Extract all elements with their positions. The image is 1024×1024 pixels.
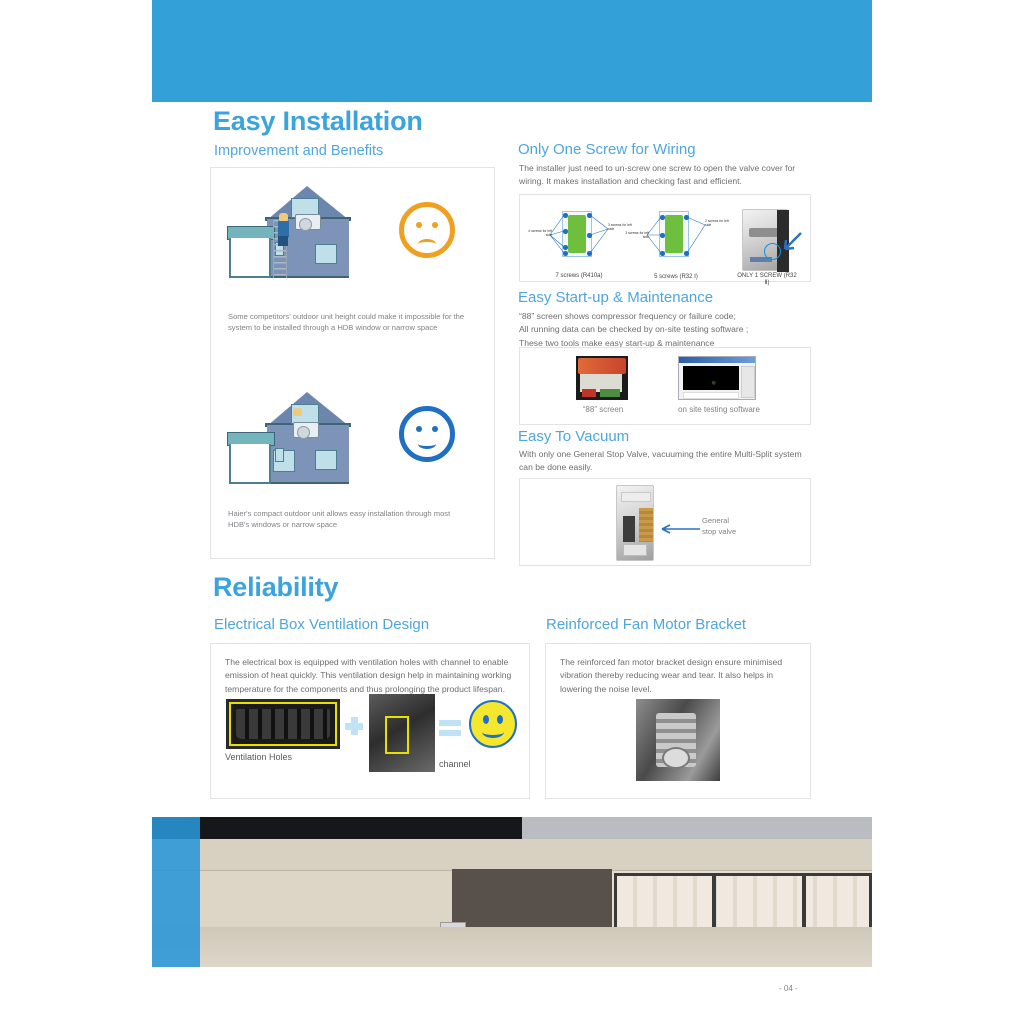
caption-competitor-limitation: Some competitors' outdoor unit height co… [228,311,470,334]
label-right-screws: 2 screws for left side [705,219,733,228]
small-window-icon [275,448,284,462]
caption-ventilation-holes: Ventilation Holes [225,752,292,762]
caption-7-screws: 7 screws (R410a) [548,273,610,279]
diagram-7-screws: 4 screws for left side 3 screws for left… [548,209,610,259]
text-easy-startup: “88” screen shows compressor frequency o… [519,310,811,350]
pointer-arrow-icon [778,231,802,253]
text-fan-motor-bracket: The reinforced fan motor bracket design … [560,656,802,696]
highlight-box [385,716,409,754]
worker-helmet-icon [293,408,302,416]
pcb-88-screen-photo [576,356,628,400]
channel-photo [369,694,435,772]
startup-line-2: All running data can be checked by on-si… [519,323,811,336]
leader-lines [645,209,707,259]
worker-helmet-icon [279,213,288,221]
text-easy-to-vacuum: With only one General Stop Valve, vacuum… [519,448,809,475]
fan-motor-bracket-panel: The reinforced fan motor bracket design … [545,643,811,799]
fan-motor-bracket-photo [636,699,720,781]
heading-only-one-screw: Only One Screw for Wiring [518,141,696,158]
house-with-ladder-icon [229,186,389,278]
label-left-screws: 4 screws for left side [526,229,552,238]
garage-shape [229,444,271,484]
side-window-icon [315,244,337,264]
blue-overlay-strip [152,817,200,967]
heading-reinforced-fan-bracket: Reinforced Fan Motor Bracket [546,616,746,633]
ventilation-holes-photo [229,702,337,746]
caption-channel: channel [439,759,471,769]
text-only-one-screw: The installer just need to un-screw one … [519,162,811,189]
caption-only-one-screw: ONLY 1 SCREW (R32 Ⅱ) [734,273,800,286]
diagram-one-screw-photo: ONLY 1 SCREW (R32 Ⅱ) [734,209,800,259]
sad-face-icon [399,202,455,258]
screw-comparison-panel: 4 screws for left side 3 screws for left… [519,194,811,282]
callout-line-2: stop valve [702,526,736,537]
text-ventilation-design: The electrical box is equipped with vent… [225,656,521,696]
illustration-competitor-unit [229,186,389,278]
equals-icon [439,720,461,740]
vacuum-valve-panel: General stop valve [519,478,811,566]
testing-software-screenshot [678,356,756,400]
callout-arrow-icon [656,523,700,535]
label-left-screws: 3 screws for left side [623,231,649,240]
page-title-easy-installation: Easy Installation [213,107,423,135]
heading-electrical-box-ventilation: Electrical Box Ventilation Design [214,616,429,633]
garage-shape [229,238,271,278]
worker-leg-icon [278,236,288,246]
brochure-page: Easy Installation Improvement and Benefi… [0,0,1024,1024]
illustration-haier-unit [229,392,389,484]
smiley-face-icon [469,700,517,748]
stop-valve-photo [616,485,654,561]
subtitle-improvement-benefits: Improvement and Benefits [214,143,383,160]
plus-icon [345,717,363,735]
outdoor-ac-unit-icon [293,422,319,438]
page-title-reliability: Reliability [213,573,338,601]
diagram-5-screws: 3 screws for left side 2 screws for left… [645,209,707,259]
heading-easy-startup: Easy Start-up & Maintenance [518,289,713,306]
ventilation-design-panel: The electrical box is equipped with vent… [210,643,530,799]
house-window-install-icon [229,392,389,484]
caption-haier-benefit: Haier's compact outdoor unit allows easy… [228,508,470,531]
top-blue-banner [152,0,872,102]
bottom-building-photo [152,817,872,967]
caption-testing-software: on site testing software [660,404,778,416]
outdoor-ac-unit-icon [295,214,321,230]
leader-lines [548,209,610,259]
happy-face-icon [399,406,455,462]
callout-line-1: General [702,515,736,526]
page-number: - 04 - [779,984,798,993]
caption-5-screws: 5 screws (R32 Ⅰ) [645,273,707,280]
startup-line-1: “88” screen shows compressor frequency o… [519,310,811,323]
startup-images-panel: “88” screen on site testing software [519,347,811,425]
easy-installation-illustration-panel: Some competitors' outdoor unit height co… [210,167,495,559]
heading-easy-to-vacuum: Easy To Vacuum [518,428,629,445]
side-window-icon [315,450,337,470]
caption-88-screen: “88” screen [560,404,646,416]
